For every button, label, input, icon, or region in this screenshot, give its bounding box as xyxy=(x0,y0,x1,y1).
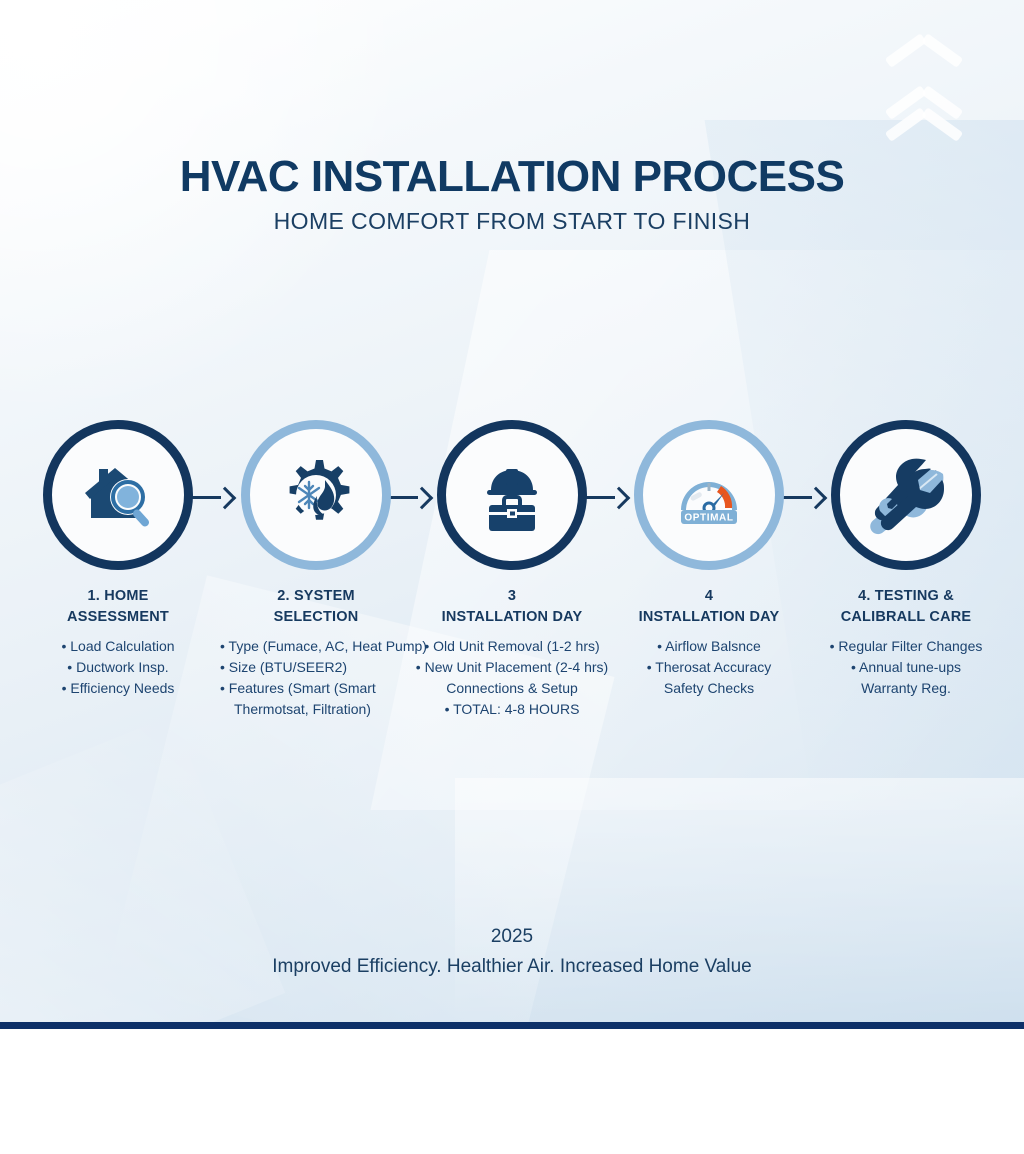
list-item: • Load Calculation xyxy=(18,636,218,657)
process-step-4[interactable]: OPTIMAL 4 INSTALLATION DAY • Airflow Bal… xyxy=(609,420,809,699)
step-title-line: SELECTION xyxy=(274,609,359,625)
list-item: Thermotsat, Filtration) xyxy=(220,699,416,720)
step-bullet-list: • Regular Filter Changes • Annual tune-u… xyxy=(806,636,1006,699)
list-item: • Type (Fumace, AC, Heat Pump) xyxy=(220,636,416,657)
list-item: Connections & Setup xyxy=(412,678,612,699)
list-item: • Ductwork Insp. xyxy=(18,657,218,678)
step-icon-circle xyxy=(437,420,587,570)
step-icon-circle: OPTIMAL xyxy=(634,420,784,570)
list-item: Safety Checks xyxy=(609,678,809,699)
step-title-line: ASSESSMENT xyxy=(67,609,169,625)
step-title: 1. HOME ASSESSMENT xyxy=(18,586,218,628)
gauge-optimal-icon: OPTIMAL xyxy=(664,450,754,540)
list-item: Warranty Reg. xyxy=(806,678,1006,699)
list-item: • Features (Smart (Smart xyxy=(220,678,416,699)
process-step-1[interactable]: 1. HOME ASSESSMENT • Load Calculation • … xyxy=(18,420,218,699)
wrench-leaf-icon xyxy=(863,452,949,538)
step-icon-circle xyxy=(241,420,391,570)
step-title-line: 3 xyxy=(508,588,516,604)
step-title-line: CALIBRALL CARE xyxy=(841,609,972,625)
footer-year: 2025 xyxy=(0,926,1024,948)
step-icon-circle xyxy=(831,420,981,570)
infographic-poster: HVAC INSTALLATION PROCESS HOME COMFORT F… xyxy=(0,0,1024,1154)
step-title-line: 4. TESTING & xyxy=(858,588,954,604)
step-bullet-list: • Airflow Balsnce • Therosat Accuracy Sa… xyxy=(609,636,809,699)
gauge-label: OPTIMAL xyxy=(684,513,733,524)
footer-divider xyxy=(0,1022,1024,1029)
page-subtitle: HOME COMFORT FROM START TO FINISH xyxy=(0,208,1024,235)
step-title-line: INSTALLATION DAY xyxy=(442,609,583,625)
step-title: 4 INSTALLATION DAY xyxy=(609,586,809,628)
page-title: HVAC INSTALLATION PROCESS xyxy=(0,152,1024,202)
step-title: 3 INSTALLATION DAY xyxy=(412,586,612,628)
chevron-up-icon xyxy=(888,58,960,88)
list-item: • Annual tune-ups xyxy=(806,657,1006,678)
step-bullet-list: • Load Calculation • Ductwork Insp. • Ef… xyxy=(18,636,218,699)
list-item: • Efficiency Needs xyxy=(18,678,218,699)
list-item: • Old Unit Removal (1-2 hrs) xyxy=(412,636,612,657)
background-facet xyxy=(455,778,1024,1018)
step-title-line: 2. SYSTEM xyxy=(277,588,355,604)
step-title-line: INSTALLATION DAY xyxy=(639,609,780,625)
step-title-line: 1. HOME xyxy=(87,588,148,604)
step-bullet-list: • Old Unit Removal (1-2 hrs) • New Unit … xyxy=(412,636,612,720)
step-icon-circle xyxy=(43,420,193,570)
hardhat-toolbox-icon xyxy=(469,452,555,538)
process-step-5[interactable]: 4. TESTING & CALIBRALL CARE • Regular Fi… xyxy=(806,420,1006,699)
list-item: • Size (BTU/SEER2) xyxy=(220,657,416,678)
step-title: 4. TESTING & CALIBRALL CARE xyxy=(806,586,1006,628)
list-item: • Regular Filter Changes xyxy=(806,636,1006,657)
step-bullet-list: • Type (Fumace, AC, Heat Pump) • Size (B… xyxy=(216,636,416,720)
process-step-3[interactable]: 3 INSTALLATION DAY • Old Unit Removal (1… xyxy=(412,420,612,720)
list-item: • Therosat Accuracy xyxy=(609,657,809,678)
footer-tagline: Improved Efficiency. Healthier Air. Incr… xyxy=(0,956,1024,978)
step-title-line: 4 xyxy=(705,588,713,604)
footer-band: Lifetime Zair www.lifetimezair.com xyxy=(0,1029,1024,1154)
list-item: • Airflow Balsnce xyxy=(609,636,809,657)
process-step-2[interactable]: 2. SYSTEM SELECTION • Type (Fumace, AC, … xyxy=(216,420,416,720)
gear-snowflake-flame-icon xyxy=(273,452,359,538)
list-item: • New Unit Placement (2-4 hrs) xyxy=(412,657,612,678)
step-title: 2. SYSTEM SELECTION xyxy=(216,586,416,628)
house-magnifier-icon xyxy=(75,452,161,538)
list-item: • TOTAL: 4-8 HOURS xyxy=(412,699,612,720)
process-steps: 1. HOME ASSESSMENT • Load Calculation • … xyxy=(0,420,1024,780)
